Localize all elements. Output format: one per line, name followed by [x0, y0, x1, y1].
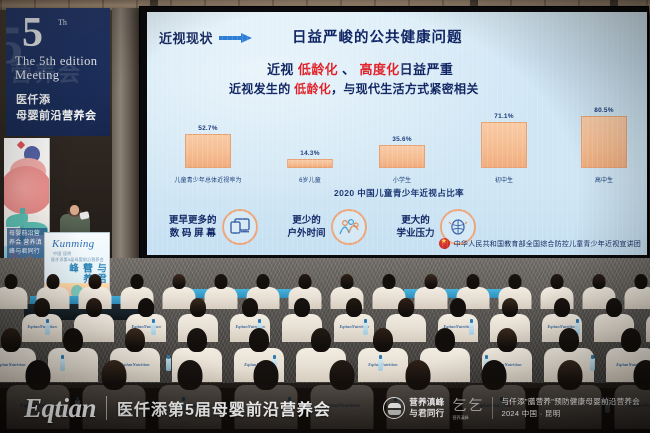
- brand-chinese-title: 医仟添第5届母婴前沿营养会: [117, 396, 331, 420]
- attendee-head: [125, 328, 145, 352]
- chart-category-label: 小学生: [393, 175, 411, 184]
- banner-english-line-2: Meeting: [15, 68, 59, 83]
- attendee-head: [340, 274, 353, 289]
- brand-divider: [106, 396, 107, 420]
- chart-bar-group: 14.3%: [287, 150, 333, 168]
- chart-bar: [481, 122, 527, 168]
- chart-bar: [287, 159, 333, 168]
- reason-line-1: 更早更多的: [169, 215, 217, 226]
- presentation-slide: 近视现状 日益严峻的公共健康问题 近视 低龄化 、 高度化日益严重 近视发生的 …: [147, 12, 647, 255]
- line1-red-2: 高度化: [359, 62, 399, 77]
- attendee-head: [298, 274, 311, 289]
- myopia-bar-chart: 52.7%14.3%35.6%71.1%80.5% 2020 中国儿童青少年近视…: [161, 104, 637, 186]
- brand-thin-divider: [492, 397, 493, 419]
- slide-emphasis-line-1: 近视 低龄化 、 高度化日益严重: [267, 59, 453, 78]
- attendee-head: [138, 298, 154, 317]
- attendee-head: [88, 274, 101, 289]
- outdoor-plant-icon: [331, 209, 367, 245]
- summit-mark-sub: 营养滇峰: [452, 415, 484, 421]
- banner-english-line-1: The 5th edition: [15, 54, 97, 69]
- attendee-head: [1, 328, 21, 352]
- brand-logo: Eqtian: [24, 393, 96, 424]
- event-banner: 5 营养会 5 Th The 5th edition Meeting 医仟添 母…: [6, 8, 110, 136]
- reason-line-2: 数 码 屏 幕: [170, 228, 216, 239]
- attendee-head: [466, 274, 479, 289]
- attendee-head: [424, 274, 437, 289]
- attendee-head: [382, 274, 395, 289]
- chart-plot-area: 52.7%14.3%35.6%71.1%80.5%: [161, 104, 637, 168]
- line1-prefix: 近视: [267, 62, 298, 77]
- banner-ordinal-suffix: Th: [58, 18, 67, 27]
- attendee-head: [86, 298, 102, 317]
- chart-category-label: 初中生: [495, 175, 513, 184]
- attendee-head: [294, 298, 310, 317]
- audience: EqtianNutritionEqtianNutritionEqtianNutr…: [0, 258, 650, 388]
- heart-icon: [17, 141, 25, 149]
- attendee-head: [435, 328, 455, 352]
- right-arrow-icon: [219, 33, 253, 43]
- reason-item-screens: 更早更多的 数 码 屏 幕: [169, 209, 258, 245]
- chart-bar-value-label: 80.5%: [581, 107, 627, 114]
- slide-title: 日益严峻的公共健康问题: [292, 26, 463, 47]
- attendee-head: [214, 274, 227, 289]
- reason-line-2: 学业压力: [397, 228, 435, 239]
- chart-bar-group: 80.5%: [581, 107, 627, 168]
- chart-bar-value-label: 14.3%: [287, 150, 333, 157]
- attendee-head: [130, 274, 143, 289]
- slide-header-label: 近视现状: [159, 28, 213, 47]
- reason-text: 更早更多的 数 码 屏 幕: [169, 214, 217, 240]
- attendee-head: [190, 298, 206, 317]
- attendee-head: [550, 274, 563, 289]
- attendee-head: [634, 274, 647, 289]
- brand-tagline: 与仟添"膳营养"预防健康母婴前沿营养会 2024 中国 · 昆明: [501, 396, 640, 420]
- speaker-face: [70, 205, 79, 215]
- brand-bar-right: 营养滇峰 与君同行 乞乞 营养滇峰 与仟添"膳营养"预防健康母婴前沿营养会 20…: [383, 395, 640, 421]
- line2-prefix: 近视发生的: [229, 82, 294, 96]
- line1-mid: 、: [338, 62, 359, 77]
- poster-text: 母婴前沿营养会 营养滇峰与君同行: [7, 228, 47, 258]
- screen-device-icon: [222, 209, 258, 245]
- attendee-head: [554, 298, 570, 317]
- tagline-line-2: 2024 中国 · 昆明: [501, 409, 560, 418]
- attendee-head: [592, 274, 605, 289]
- reason-text: 更大的 学业压力: [397, 214, 435, 240]
- slide-emphasis-line-2: 近视发生的 低龄化，与现代生活方式紧密相关: [229, 80, 479, 97]
- chart-bar-group: 35.6%: [379, 136, 425, 168]
- attendee-head: [373, 328, 393, 352]
- summit-line-1: 营养滇峰: [409, 397, 444, 407]
- attendee-head: [187, 328, 207, 352]
- attendee-head: [497, 328, 517, 352]
- flower-icon: [4, 166, 50, 214]
- attendee-head: [4, 274, 17, 289]
- chart-category-label: 6岁儿童: [299, 175, 321, 184]
- chart-bar-value-label: 71.1%: [481, 113, 527, 120]
- attendee-head: [63, 328, 83, 352]
- slide-header: 近视现状: [159, 28, 253, 47]
- banner-chinese-line-1: 医仟添: [16, 91, 51, 107]
- attendee-head: [46, 274, 59, 289]
- attendee-head: [559, 328, 579, 352]
- summit-mark-glyph: 乞乞: [452, 399, 484, 414]
- attendee-head: [249, 328, 269, 352]
- water-bottle: [378, 358, 383, 371]
- chart-category-label: 高中生: [595, 175, 613, 184]
- attendee-head: [450, 298, 466, 317]
- summit-logo-text: 营养滇峰 与君同行: [409, 397, 444, 419]
- attendee-head: [172, 274, 185, 289]
- slide-credit: 中华人民共和国教育部全国综合防控儿童青少年近视宣讲团: [439, 238, 641, 249]
- tagline-line-1: 与仟添"膳营养"预防健康母婴前沿营养会: [501, 397, 640, 406]
- chart-bar-group: 52.7%: [185, 125, 231, 168]
- chart-bar: [379, 145, 425, 168]
- attendee-head: [242, 298, 258, 317]
- summit-mark: 乞乞 营养滇峰: [452, 395, 484, 421]
- reason-text: 更少的 户外时间: [288, 214, 326, 240]
- attendee-head: [256, 274, 269, 289]
- chart-bar-value-label: 52.7%: [185, 125, 231, 132]
- attendee-head: [398, 298, 414, 317]
- attendee-head: [621, 328, 641, 352]
- summit-logo-icon: 营养滇峰 与君同行: [383, 397, 444, 419]
- line2-suffix: ，与现代生活方式紧密相关: [331, 82, 479, 96]
- line2-red: 低龄化: [294, 82, 331, 96]
- chart-category-label: 儿童青少年总体近视率为: [174, 175, 241, 184]
- chart-bar: [581, 116, 627, 168]
- line1-suffix: 日益严重: [400, 62, 454, 77]
- attendee-head: [606, 298, 622, 317]
- reason-line-2: 户外时间: [288, 228, 326, 239]
- line1-red-1: 低龄化: [298, 62, 338, 77]
- summit-line-2: 与君同行: [409, 408, 444, 418]
- attendee-head: [502, 298, 518, 317]
- attendee-head: [346, 298, 362, 317]
- national-emblem-icon: [439, 238, 450, 249]
- reason-line-1: 更大的: [401, 215, 430, 226]
- attendee-head: [508, 274, 521, 289]
- credit-text: 中华人民共和国教育部全国综合防控儿童青少年近视宣讲团: [454, 239, 641, 249]
- brand-bar: Eqtian 医仟添第5届母婴前沿营养会 营养滇峰 与君同行 乞乞 营养滇峰 与…: [0, 383, 650, 433]
- chart-title: 2020 中国儿童青少年近视占比率: [161, 187, 637, 199]
- chart-bar: [185, 134, 231, 168]
- conference-photo: 5 营养会 5 Th The 5th edition Meeting 医仟添 母…: [0, 0, 650, 433]
- reason-line-1: 更少的: [292, 215, 321, 226]
- chart-bar-value-label: 35.6%: [379, 136, 425, 143]
- podium-city-label: Kunming: [52, 238, 94, 250]
- banner-edition-number: 5: [22, 12, 43, 54]
- attendee-head: [311, 328, 331, 352]
- reason-item-outdoor: 更少的 户外时间: [288, 209, 367, 245]
- banner-chinese-line-2: 母婴前沿营养会: [16, 107, 97, 123]
- attendee-head: [34, 298, 50, 317]
- chart-bar-group: 71.1%: [481, 113, 527, 168]
